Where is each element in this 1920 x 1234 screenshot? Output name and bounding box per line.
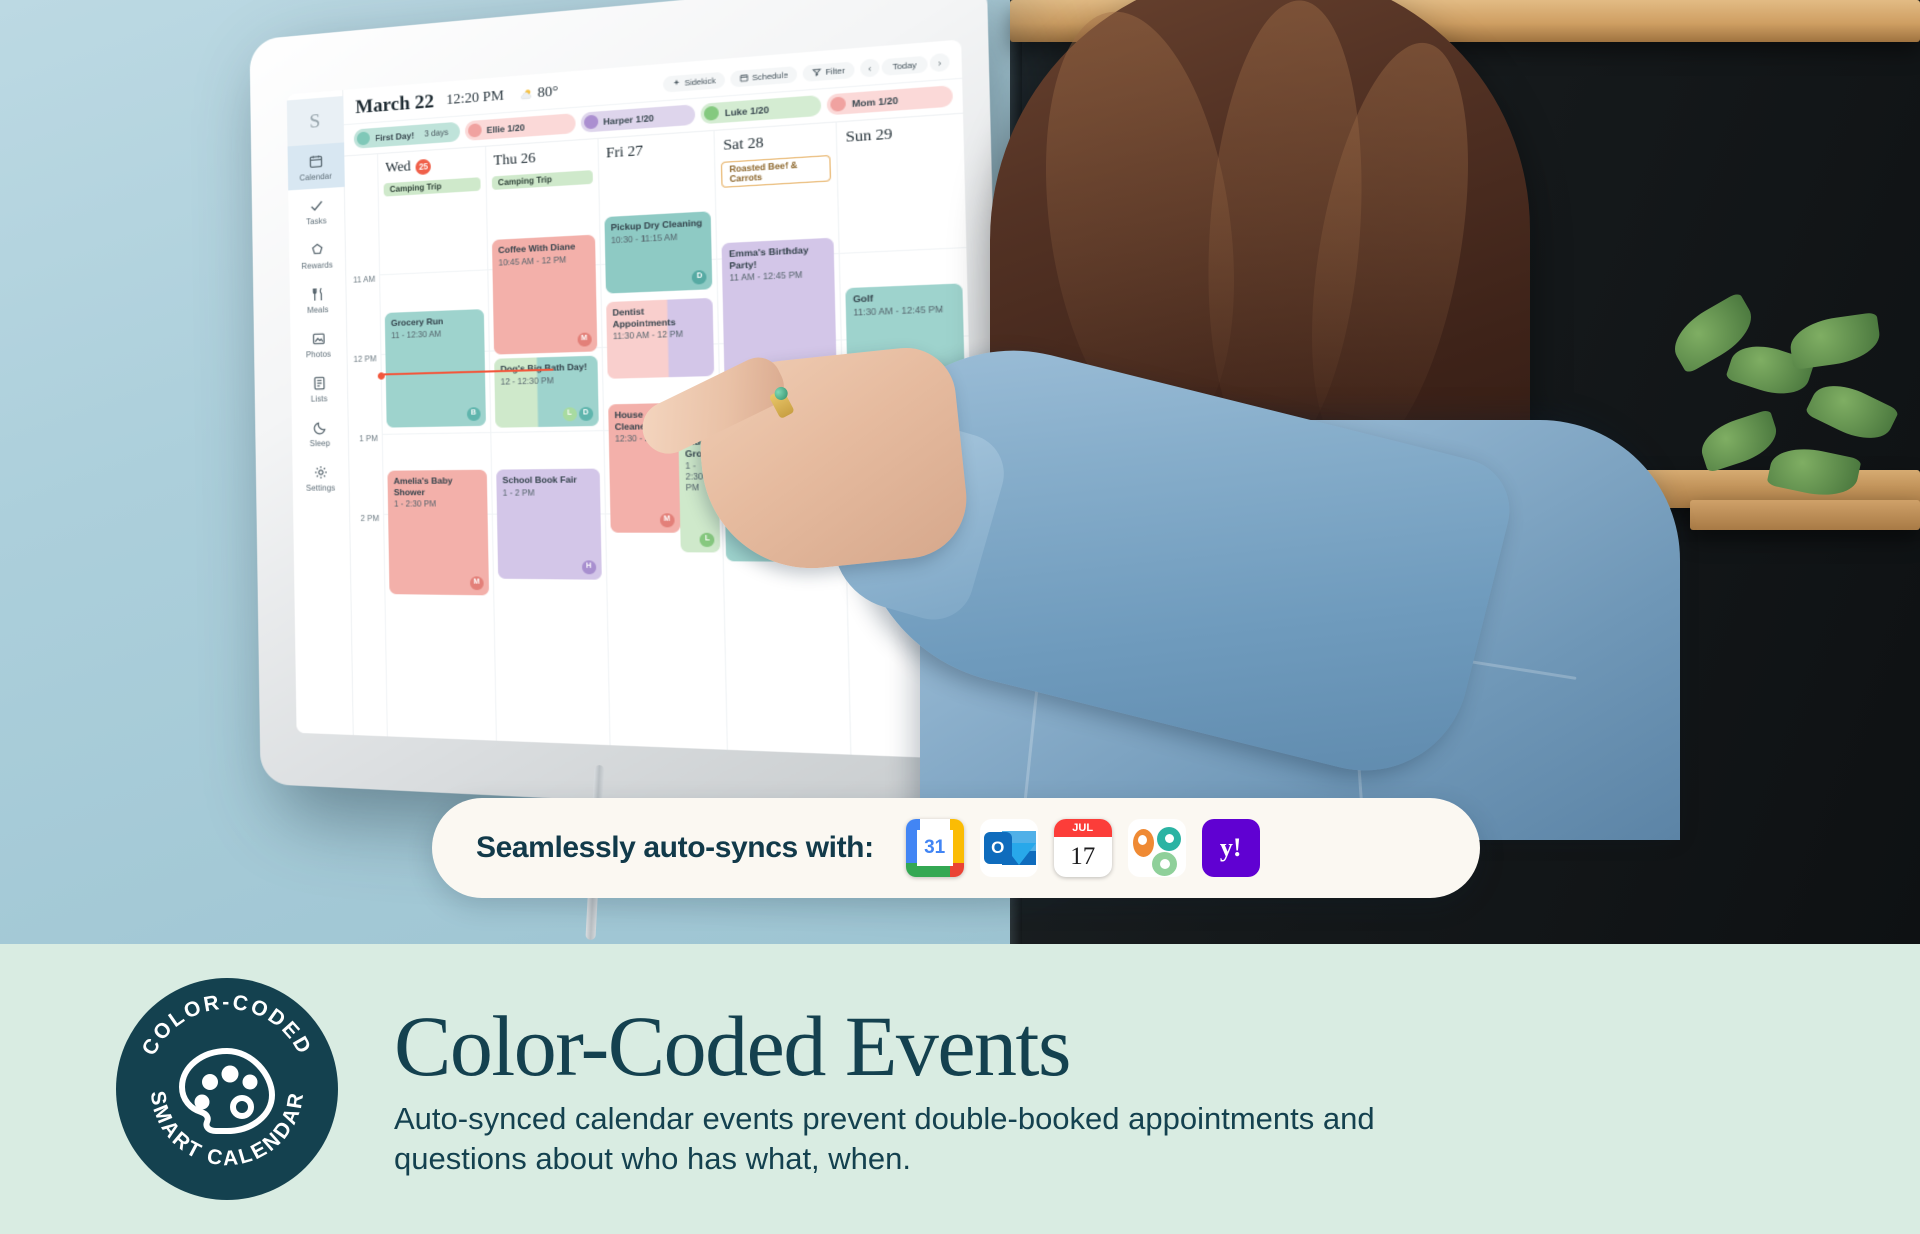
hour-label: 1 PM <box>359 434 378 443</box>
shoulder-denim-shirt <box>920 420 1680 840</box>
moon-icon <box>312 420 328 436</box>
sidebar-item-tasks[interactable]: Tasks <box>288 187 345 235</box>
photo-icon <box>310 330 326 347</box>
schedule-button[interactable]: Schedule <box>730 65 797 87</box>
event-time: 11:30 AM - 12 PM <box>613 329 707 343</box>
sidebar-label: Sleep <box>310 439 331 448</box>
hour-label: 11 AM <box>353 275 375 285</box>
utensils-icon <box>310 286 326 303</box>
promo-section: COLOR-CODED SMART CALENDAR Color-Coded E… <box>0 944 1920 1234</box>
event-time: 12:30 - 2 PM <box>615 434 672 446</box>
sidebar-item-settings[interactable]: Settings <box>292 455 350 500</box>
event-card[interactable]: Emma's Birthday Party! 11 AM - 12:45 PM … <box>722 238 837 383</box>
sidebar-item-meals[interactable]: Meals <box>289 276 346 323</box>
event-avatar: M <box>660 513 675 527</box>
today-date-badge: 25 <box>416 158 432 174</box>
day-name: Sat 28 <box>723 135 764 155</box>
event-card[interactable]: Dog's Big Bath Day! 12 - 12:30 PM L D <box>494 356 598 428</box>
temperature: 80° <box>537 84 558 102</box>
filter-label: Filter <box>825 65 845 76</box>
apple-calendar-logo: JUL 17 <box>1054 819 1112 877</box>
day-columns: Wed 25 Camping Trip Grocery Run <box>378 114 979 760</box>
event-time: 11 AM - 12:45 PM <box>729 269 827 284</box>
event-time: 10:30 - 11:15 AM <box>611 231 705 246</box>
event-card[interactable]: Dentist Appointments 11:30 AM - 12 PM <box>606 298 715 379</box>
day-name: Sun 29 <box>845 126 892 147</box>
event-time: 11 - 12:30 AM <box>391 328 478 341</box>
event-title: Amelia's Baby Shower <box>394 475 481 498</box>
outlook-mark: O <box>984 832 1012 864</box>
sidebar-label: Photos <box>306 350 331 360</box>
photo-scene: S Calendar Tasks <box>0 0 1920 944</box>
hour-slots: Grocery Run 11 - 12:30 AM B Amelia's Bab… <box>379 211 496 741</box>
calendar-app: S Calendar Tasks <box>287 39 980 759</box>
sidekick-label: Sidekick <box>684 75 716 87</box>
sidebar-item-calendar[interactable]: Calendar <box>287 142 344 190</box>
sidebar-label: Rewards <box>301 260 333 271</box>
header-time: 12:20 PM <box>446 88 504 109</box>
brand-logo: S <box>287 96 344 146</box>
wall-mounted-tablet: S Calendar Tasks <box>249 0 1008 821</box>
yahoo-logo: y! <box>1202 819 1260 877</box>
sidebar-item-rewards[interactable]: Rewards <box>288 231 345 278</box>
event-avatar: D <box>692 270 707 285</box>
event-card[interactable]: House Cleaner 12:30 - 2 PM M <box>608 403 680 533</box>
cozi-logo <box>1128 819 1186 877</box>
header-date: March 22 <box>355 91 434 120</box>
avatar <box>830 96 846 111</box>
event-card[interactable]: Study Group 1 - 2:30 PM L <box>678 430 721 552</box>
event-time: 1 - 2:30 PM <box>685 461 712 494</box>
avatar <box>468 123 482 137</box>
calendar-grid[interactable]: 11 AM 12 PM 1 PM 2 PM Wed <box>344 114 979 760</box>
sidebar-label: Lists <box>311 394 328 403</box>
person-chip[interactable]: Ellie 1/20 <box>465 113 576 141</box>
promo-subhead: Auto-synced calendar events prevent doub… <box>394 1099 1494 1178</box>
google-calendar-logo: 31 <box>906 819 964 877</box>
event-avatar: L <box>700 533 715 547</box>
event-card[interactable]: Coffee With Diane 10:45 AM - 12 PM M <box>492 235 597 355</box>
event-avatar: M <box>470 576 484 590</box>
person-figure <box>930 0 1650 760</box>
hour-label: 12 PM <box>353 354 376 364</box>
event-avatar: B <box>467 407 481 421</box>
event-title: Lunch With Mom <box>731 472 832 485</box>
event-card[interactable]: Grocery Run 11 - 12:30 AM B <box>385 309 486 428</box>
filter-button[interactable]: Filter <box>803 61 855 82</box>
day-column-fri[interactable]: Fri 27 Pickup Dry Cleaning 10:30 - 11:15… <box>598 131 728 750</box>
tablet-screen[interactable]: S Calendar Tasks <box>287 39 980 759</box>
day-title: Thu 26 <box>493 147 591 170</box>
person-name: First Day! <box>375 130 415 143</box>
color-coded-badge: COLOR-CODED SMART CALENDAR <box>116 978 338 1200</box>
weather-widget: 80° <box>518 84 558 104</box>
promo-headline: Color-Coded Events <box>394 1003 1494 1089</box>
all-day-event[interactable]: Camping Trip <box>384 177 481 196</box>
google-calendar-day: 31 <box>917 830 953 866</box>
event-time: 1 - 2 PM <box>503 487 594 498</box>
sync-banner: Seamlessly auto-syncs with: 31 O JUL 17 … <box>432 798 1480 898</box>
sidebar-label: Settings <box>306 483 335 492</box>
day-title: Fri 27 <box>606 139 708 163</box>
star-icon <box>309 242 325 259</box>
outlook-logo: O <box>980 819 1038 877</box>
day-name: Thu 26 <box>493 151 535 170</box>
day-title: Sat 28 <box>723 131 829 155</box>
event-avatar: D <box>579 407 593 421</box>
sidebar-item-lists[interactable]: Lists <box>290 365 348 411</box>
app-main: March 22 12:20 PM 80° <box>343 39 979 759</box>
person-meta: 3 days <box>424 128 450 139</box>
person-chip[interactable]: Luke 1/20 <box>701 95 822 124</box>
avatar <box>584 115 598 130</box>
avatar <box>704 106 719 121</box>
hour-label: 2 PM <box>360 514 379 523</box>
filter-icon <box>812 67 822 77</box>
event-time: 1 - 2:30 PM <box>394 499 481 510</box>
apple-calendar-month: JUL <box>1054 819 1112 837</box>
event-title: School Book Fair <box>502 474 593 486</box>
event-avatar: E <box>815 360 831 375</box>
person-name: Luke 1/20 <box>725 104 769 118</box>
sidebar-item-sleep[interactable]: Sleep <box>291 410 349 456</box>
sidebar-label: Tasks <box>306 216 327 226</box>
event-card[interactable]: Amelia's Baby Shower 1 - 2:30 PM M <box>387 470 488 596</box>
event-time: 10:45 AM - 12 PM <box>498 254 588 269</box>
badge-graphic: COLOR-CODED SMART CALENDAR <box>116 978 338 1200</box>
day-column-sat[interactable]: Sat 28 Roasted Beef & Carrots Emma's Bir… <box>715 122 852 754</box>
day-title: Wed 25 <box>385 154 479 177</box>
sync-banner-text: Seamlessly auto-syncs with: <box>476 831 874 865</box>
sparkle-icon <box>672 78 681 87</box>
event-card[interactable]: Lunch With Mom 1 PM <box>725 466 842 562</box>
person-chip[interactable]: Harper 1/20 <box>580 104 695 133</box>
sidekick-button[interactable]: Sidekick <box>663 71 725 92</box>
event-avatar: L <box>562 407 576 421</box>
promo-text: Color-Coded Events Auto-synced calendar … <box>394 999 1494 1178</box>
day-column-thu[interactable]: Thu 26 Camping Trip Coffee With Diane <box>486 139 610 745</box>
dotted-circle-icon <box>357 131 370 145</box>
event-avatar: M <box>577 332 591 346</box>
day-name: Wed <box>385 159 411 177</box>
hour-slots: Pickup Dry Cleaning 10:30 - 11:15 AM D D… <box>599 198 727 750</box>
event-time: 1 PM <box>732 486 833 498</box>
person-name: Mom 1/20 <box>852 94 898 108</box>
check-icon <box>308 197 324 214</box>
sidebar-item-photos[interactable]: Photos <box>290 321 347 367</box>
today-button[interactable]: Today <box>882 55 928 75</box>
calendar-icon <box>308 153 324 170</box>
event-title: Study Group <box>685 436 712 459</box>
person-chip[interactable]: First Day! 3 days <box>354 122 460 149</box>
gear-icon <box>312 464 328 480</box>
palette-icon <box>182 1051 272 1131</box>
sidebar-label: Calendar <box>299 172 332 183</box>
event-title: House Cleaner <box>614 408 671 432</box>
event-title: Grocery Run <box>391 315 478 329</box>
sync-logo-row: 31 O JUL 17 y! <box>906 819 1260 877</box>
list-icon <box>311 375 327 392</box>
event-card[interactable]: School Book Fair 1 - 2 PM H <box>496 469 601 580</box>
schedule-label: Schedule <box>752 69 788 82</box>
event-avatar: H <box>582 560 596 574</box>
prev-week-button[interactable]: ‹ <box>860 58 879 77</box>
all-day-event[interactable]: Camping Trip <box>492 170 593 190</box>
hanging-plant <box>1660 300 1920 540</box>
hour-slots: Emma's Birthday Party! 11 AM - 12:45 PM … <box>716 191 850 755</box>
event-time: 12 - 12:30 PM <box>501 375 592 388</box>
apple-calendar-day: 17 <box>1054 837 1112 877</box>
all-day-meal[interactable]: Roasted Beef & Carrots <box>721 155 831 188</box>
person-name: Harper 1/20 <box>603 112 654 126</box>
person-name: Ellie 1/20 <box>487 122 525 135</box>
day-column-wed[interactable]: Wed 25 Camping Trip Grocery Run <box>378 147 497 741</box>
hour-slots: Coffee With Diane 10:45 AM - 12 PM M Dog… <box>487 205 609 745</box>
event-card[interactable]: Pickup Dry Cleaning 10:30 - 11:15 AM D <box>604 211 713 293</box>
partly-cloudy-icon <box>518 87 533 103</box>
event-title: Emma's Birthday Party! <box>729 244 827 272</box>
calendar-small-icon <box>739 73 748 82</box>
app-sidebar: S Calendar Tasks <box>287 90 354 735</box>
event-title: Dentist Appointments <box>612 304 706 330</box>
sidebar-label: Meals <box>307 305 329 315</box>
day-name: Fri 27 <box>606 143 643 162</box>
